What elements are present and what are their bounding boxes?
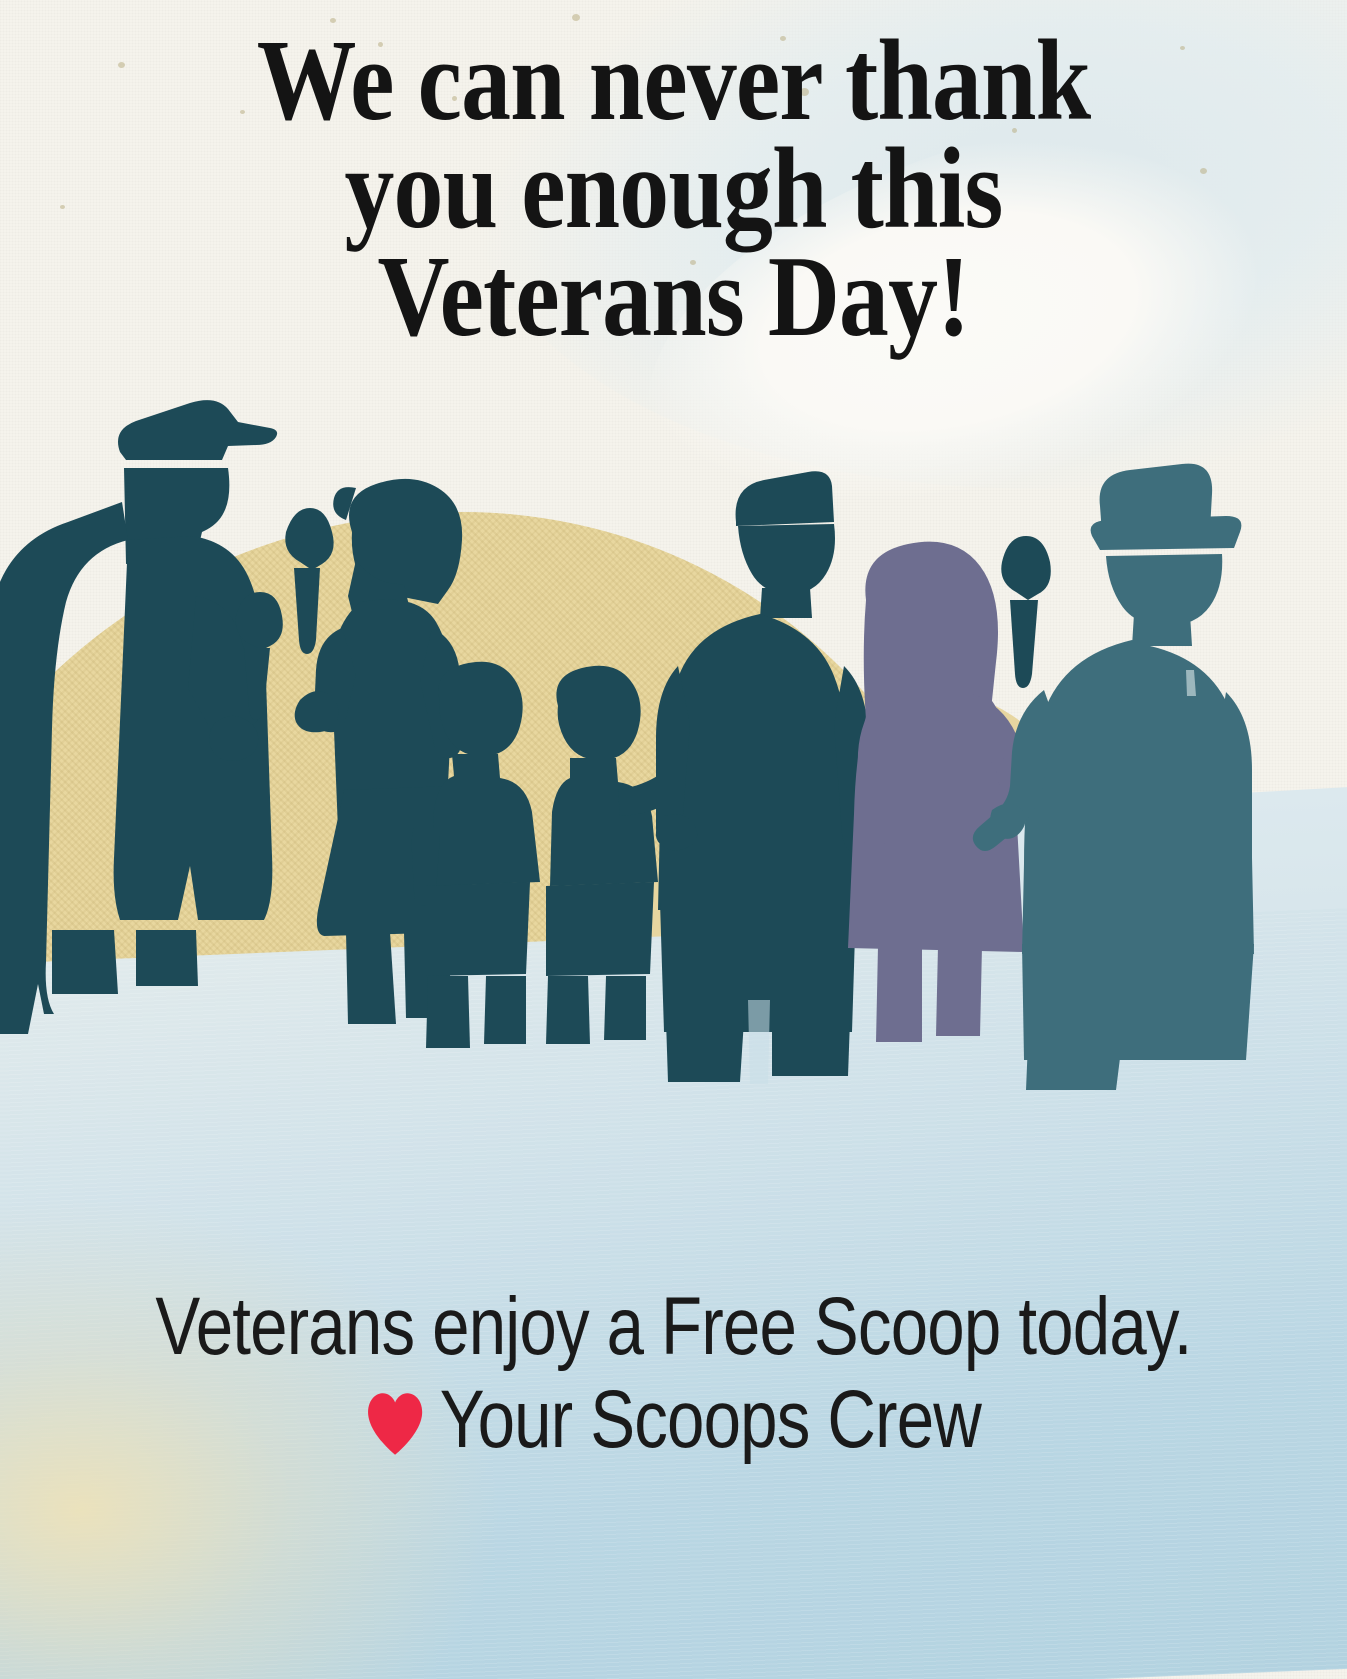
heart-icon (366, 1388, 425, 1460)
figure-veteran-in-cap-coat (0, 400, 283, 1034)
headline-line-3: Veterans Day! (94, 244, 1252, 352)
page-title: We can never thank you enough this Veter… (94, 28, 1252, 352)
headline-line-1: We can never thank (94, 28, 1252, 136)
footer-signature-line: Your Scoops Crew (121, 1373, 1226, 1466)
figure-soldier-garrison-cap (656, 471, 868, 1084)
footer-offer-line: Veterans enjoy a Free Scoop today. (121, 1280, 1226, 1373)
headline-line-2: you enough this (94, 136, 1252, 244)
figure-officer-peaked-cap (973, 464, 1254, 1090)
veterans-day-poster: .dk{fill:#1D4A57;} .md{fill:#3E6E7C;} .l… (0, 0, 1347, 1679)
footer-signature-text: Your Scoops Crew (440, 1373, 981, 1466)
footer-message: Veterans enjoy a Free Scoop today. Your … (0, 1280, 1347, 1467)
